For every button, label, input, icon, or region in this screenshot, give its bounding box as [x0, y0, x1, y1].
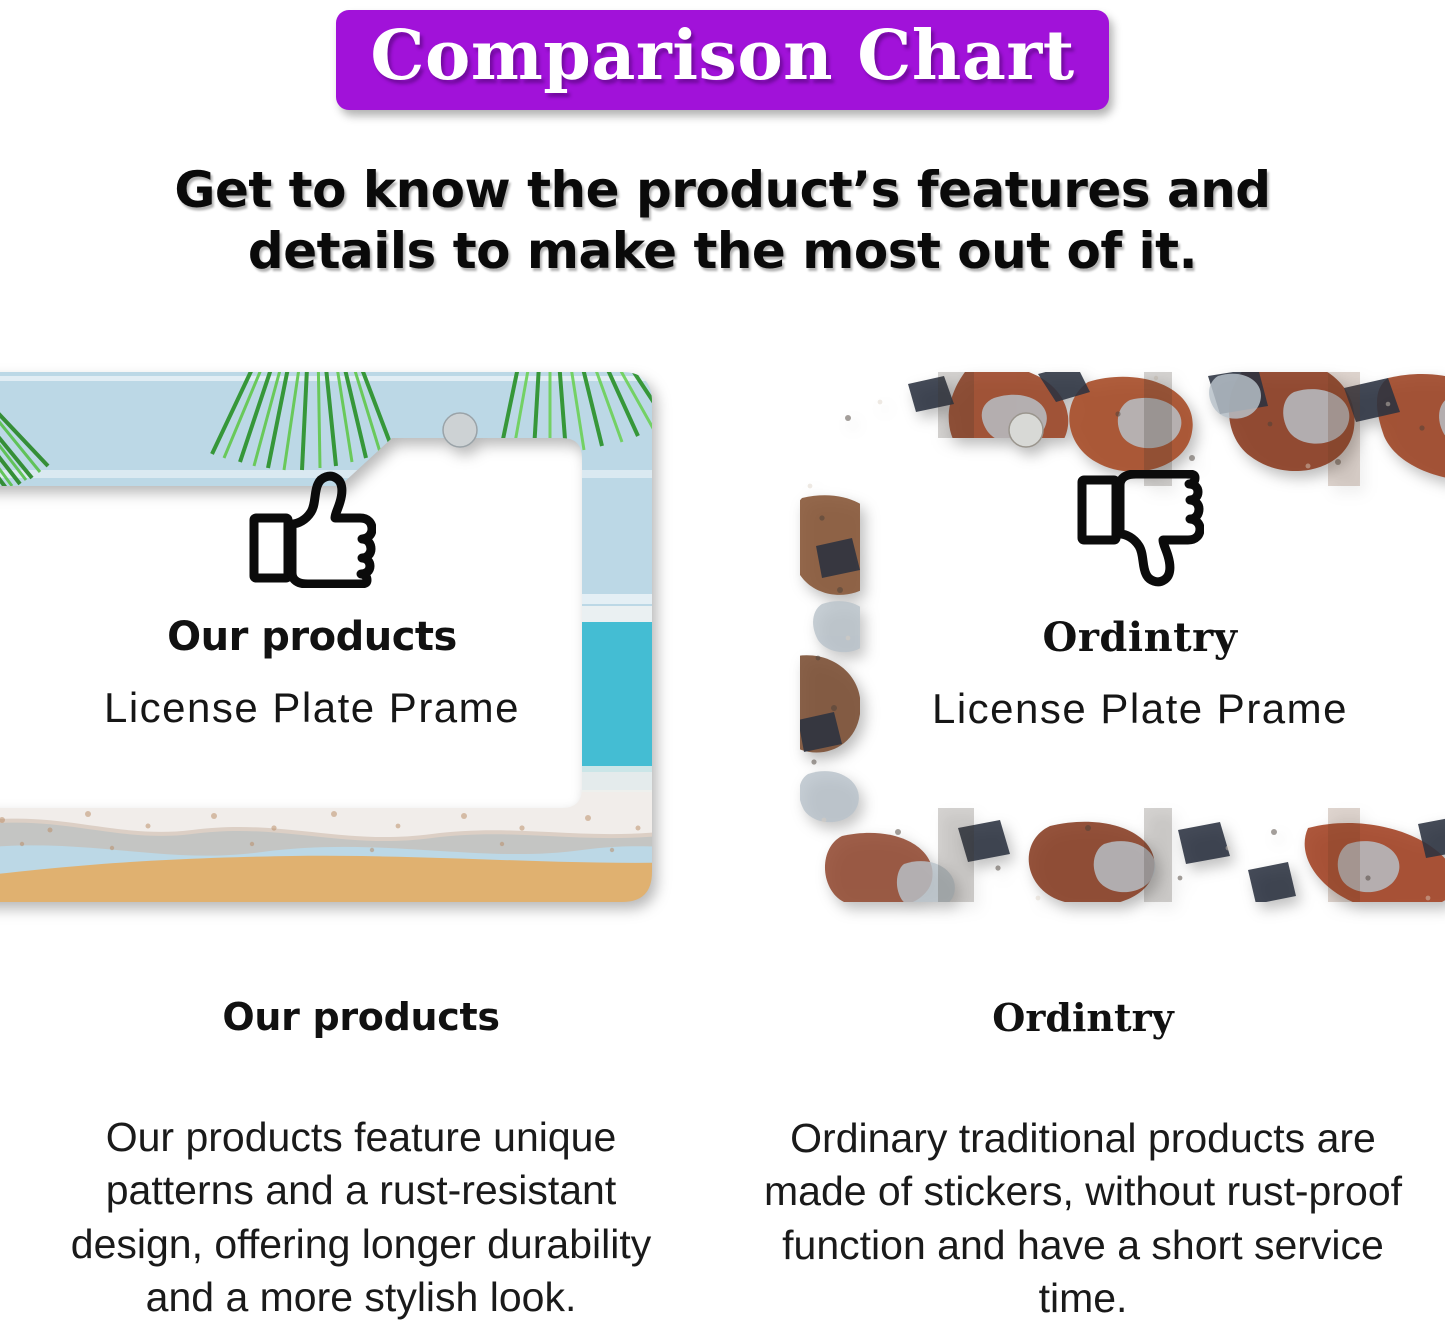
- column-ours: Our products Our products feature unique…: [0, 995, 722, 1325]
- column-description-ordinary: Ordinary traditional products are made o…: [756, 1112, 1410, 1325]
- license-plate-frame-beach: [0, 358, 692, 916]
- column-ordinary: Ordintry Ordinary traditional products a…: [722, 995, 1444, 1325]
- product-frame-ours: [0, 358, 692, 916]
- column-description-ours: Our products feature unique patterns and…: [34, 1111, 688, 1324]
- product-frame-ordinary: [788, 358, 1445, 916]
- license-plate-frame-rusted: [788, 358, 1445, 916]
- column-heading-ours: Our products: [34, 995, 688, 1039]
- comparison-columns: Our products Our products feature unique…: [0, 995, 1445, 1325]
- column-heading-ordinary: Ordintry: [756, 995, 1410, 1040]
